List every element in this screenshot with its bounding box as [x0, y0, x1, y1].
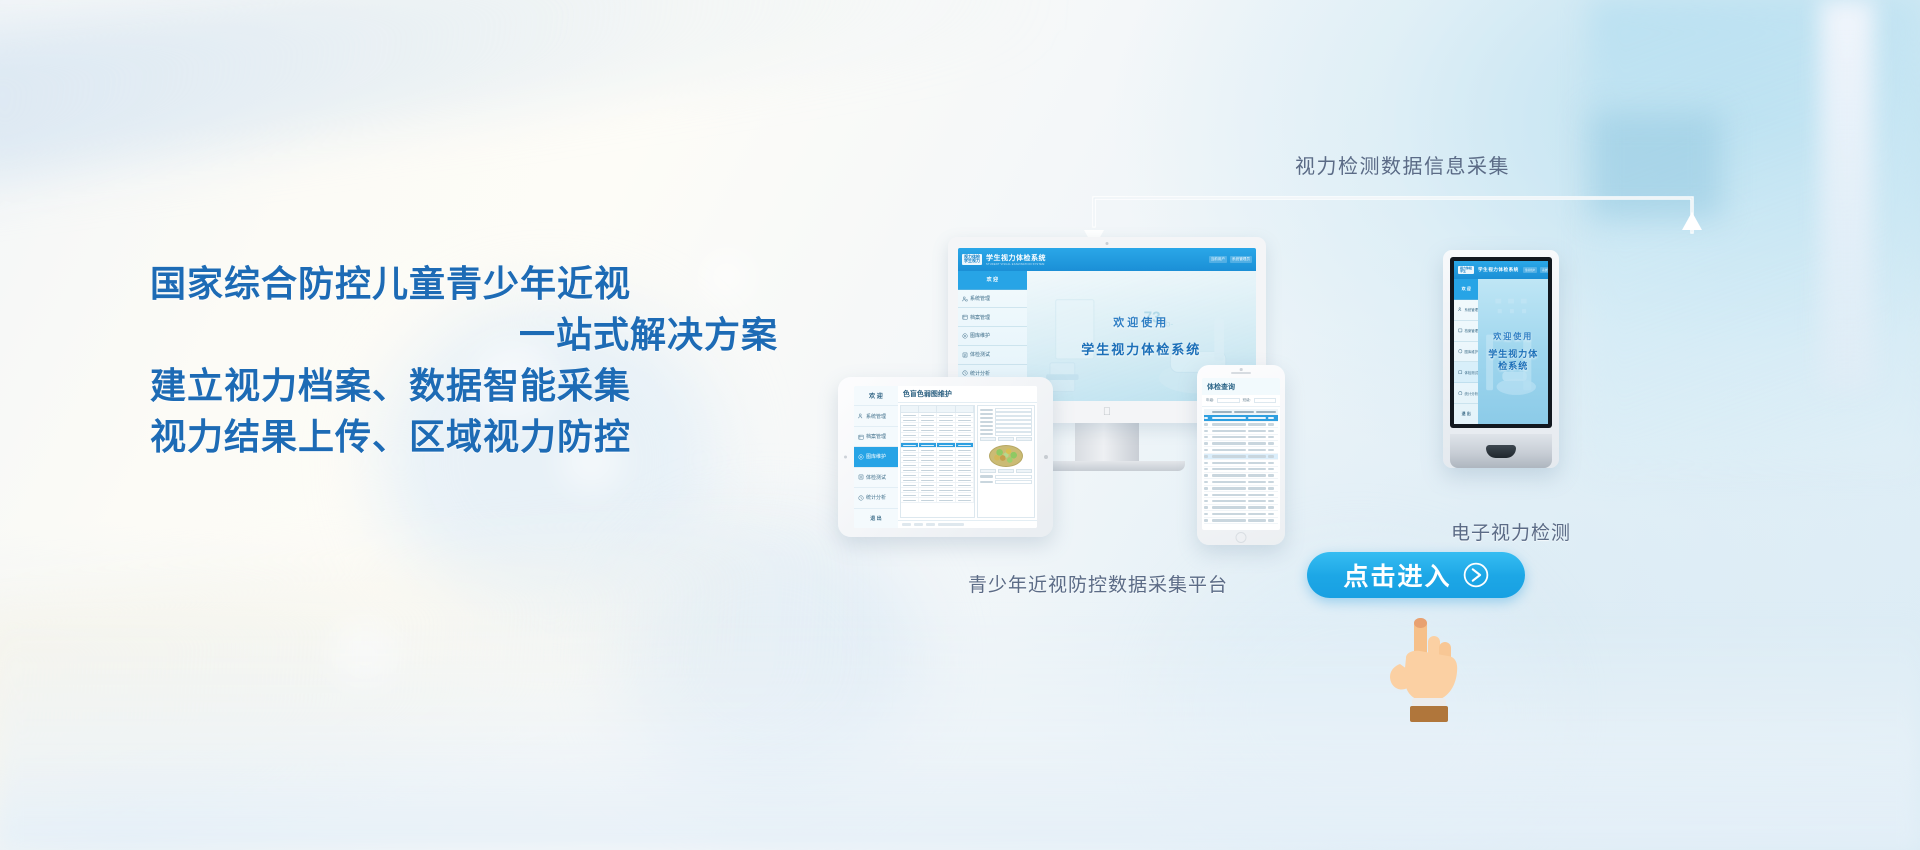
user-gear-icon [962, 296, 968, 302]
tablet-sidebar-item-exam[interactable]: 体检测试 [854, 468, 898, 488]
kiosk-user-chip-2[interactable]: 系统管理员 [1540, 267, 1548, 273]
enter-button-label: 点击进入 [1343, 557, 1451, 593]
tablet-detail-panel[interactable] [977, 405, 1035, 518]
folder-icon [962, 314, 968, 320]
phone-page-title: 体检查询 [1202, 378, 1280, 395]
app-brand-subtitle: STUDENT VISUAL EXAMINATION SYSTEM [986, 263, 1046, 266]
enter-button[interactable]: 点击进入 [1307, 552, 1525, 598]
kiosk-main-content: 欢迎使用 学生视力体检系统 [1478, 279, 1548, 424]
sidebar-item-exam[interactable]: 体检测试 [958, 346, 1027, 365]
phone-filter-select-class[interactable] [1254, 398, 1276, 403]
user-gear-icon [858, 413, 864, 419]
tablet-device: 欢 迎 系统管理 档案管理 图库维护 [838, 377, 1053, 537]
tablet-sidebar-label-system: 系统管理 [866, 413, 886, 420]
tablet-sidebar-item-gallery[interactable]: 图库维护 [854, 447, 898, 467]
tablet-home-button[interactable] [1044, 455, 1048, 459]
banner-stage: 国家综合防控儿童青少年近视 一站式解决方案 建立视力档案、数据智能采集 视力结果… [0, 0, 1920, 850]
kiosk-system-name: 学生视力体检系统 [1486, 348, 1540, 372]
kiosk-scanner-module [1486, 445, 1516, 458]
pointing-hand-icon [1376, 612, 1472, 722]
kiosk-sidebar-item-exam[interactable]: 体检测试 [1454, 362, 1478, 383]
phone-screen: 体检查询 年级: 班级: [1202, 378, 1280, 530]
kiosk-sidebar-label-system: 系统管理 [1465, 307, 1479, 312]
tablet-sidebar-item-system[interactable]: 系统管理 [854, 406, 898, 426]
apple-logo-icon:  [1103, 406, 1111, 418]
kiosk-sidebar-item-stats[interactable]: 统计分析 [1454, 383, 1478, 404]
user-gear-icon [1458, 307, 1463, 312]
tablet-sidebar-label-exam: 体检测试 [866, 474, 886, 481]
tablet-app-body: 欢 迎 系统管理 档案管理 图库维护 [854, 386, 1037, 528]
tablet-panel-buttons-top[interactable] [980, 437, 1032, 441]
kiosk-sidebar-label-gallery: 图库维护 [1465, 349, 1479, 354]
arrow-right-circle-icon [1463, 562, 1489, 588]
tablet-main-content: 色盲色弱图维护 [898, 386, 1037, 528]
phone-filter-label-grade: 年级: [1206, 398, 1214, 403]
sidebar-item-archive[interactable]: 档案管理 [958, 308, 1027, 327]
tablet-grid-row[interactable] [901, 498, 974, 503]
sidebar-label-system: 系统管理 [970, 295, 990, 302]
image-icon [858, 454, 864, 460]
tablet-panel-buttons-bottom[interactable] [980, 469, 1032, 473]
sidebar-label-exam: 体检测试 [970, 351, 990, 358]
tablet-sidebar-item-welcome[interactable]: 欢 迎 [854, 386, 898, 406]
phone-camera-icon [1240, 368, 1243, 371]
tablet-sidebar-label-gallery: 图库维护 [866, 453, 886, 460]
tablet-page-title: 色盲色弱图维护 [898, 386, 1037, 403]
kiosk-user-chip-1[interactable]: 当前用户 [1523, 267, 1537, 273]
image-icon [962, 333, 968, 339]
tablet-grid-rows[interactable] [901, 413, 974, 517]
kiosk-sidebar-item-archive[interactable]: 档案管理 [1454, 321, 1478, 342]
phone-filter-bar[interactable]: 年级: 班级: [1202, 395, 1280, 407]
phone-filter-label-class: 班级: [1243, 398, 1251, 403]
tablet-camera-icon [844, 456, 847, 459]
kiosk-user-area[interactable]: 当前用户 系统管理员 [1523, 267, 1548, 273]
sidebar-label-stats: 统计分析 [970, 370, 990, 377]
tablet-screen: 欢 迎 系统管理 档案管理 图库维护 [854, 386, 1037, 528]
kiosk-sidebar-item-system[interactable]: 系统管理 [1454, 300, 1478, 321]
kiosk-screen: 视力体检学生 学生视力体检系统 当前用户 系统管理员 欢 迎 [1454, 261, 1548, 424]
clipboard-icon [1458, 370, 1463, 375]
folder-icon [1458, 328, 1463, 333]
chart-clock-icon [858, 495, 864, 501]
phone-device: 体检查询 年级: 班级: [1197, 365, 1285, 545]
image-icon [1458, 349, 1463, 354]
kiosk-sidebar-label-exam: 体检测试 [1465, 370, 1479, 375]
monitor-stand-neck [1075, 423, 1139, 461]
kiosk-room-illustration [1478, 279, 1548, 407]
monitor-camera-icon [1106, 242, 1109, 245]
chart-clock-icon [1458, 391, 1463, 396]
tablet-status-bar [898, 520, 1037, 528]
chart-clock-icon [962, 370, 968, 376]
tablet-form-field[interactable] [980, 432, 1032, 436]
app-system-name: 学生视力体检系统 [1081, 339, 1201, 358]
app-user-chip-1[interactable]: 当前用户 [1209, 256, 1227, 263]
phone-table-row[interactable] [1204, 518, 1278, 524]
phone-home-button[interactable] [1236, 532, 1247, 543]
caption-platform: 青少年近视防控数据采集平台 [968, 570, 1228, 597]
tablet-sidebar-label-archive: 档案管理 [866, 433, 886, 440]
sidebar-item-gallery[interactable]: 图库维护 [958, 327, 1027, 346]
tablet-sidebar-label-stats: 统计分析 [866, 494, 886, 501]
kiosk-sidebar-item-gallery[interactable]: 图库维护 [1454, 342, 1478, 363]
tablet-workspace [898, 403, 1037, 520]
phone-speaker [1231, 372, 1251, 374]
folder-icon [858, 434, 864, 440]
vision-kiosk-device: 视力体检学生 学生视力体检系统 当前用户 系统管理员 欢 迎 [1443, 250, 1559, 468]
app-header-bar: 视力体检学生视力 学生视力体检系统 STUDENT VISUAL EXAMINA… [958, 248, 1256, 271]
tablet-grid-header [901, 406, 974, 413]
kiosk-app-logo: 视力体检学生 [1458, 266, 1474, 274]
app-logo: 视力体检学生视力 [962, 254, 982, 264]
kiosk-sidebar-label-stats: 统计分析 [1465, 391, 1479, 396]
sidebar-label-archive: 档案管理 [970, 314, 990, 321]
device-cluster: 视力体检学生视力 学生视力体检系统 STUDENT VISUAL EXAMINA… [0, 0, 1920, 850]
vision-app-kiosk: 视力体检学生 学生视力体检系统 当前用户 系统管理员 欢 迎 [1454, 261, 1548, 424]
tablet-sidebar-item-exit[interactable]: 退 出 [854, 509, 898, 528]
kiosk-sidebar: 欢 迎 系统管理 档案管理 [1454, 279, 1478, 424]
kiosk-brand-title: 学生视力体检系统 [1478, 267, 1519, 273]
tablet-answer-field-1[interactable] [980, 475, 1032, 479]
sidebar-item-welcome[interactable]: 欢 迎 [958, 271, 1027, 290]
app-welcome-text: 欢迎使用 [1113, 314, 1169, 330]
kiosk-sidebar-label-archive: 档案管理 [1465, 328, 1479, 333]
sidebar-item-system[interactable]: 系统管理 [958, 290, 1027, 309]
app-user-area[interactable]: 当前用户 系统管理员 [1209, 256, 1252, 263]
phone-filter-select-grade[interactable] [1217, 398, 1239, 403]
kiosk-base [1450, 434, 1552, 468]
clipboard-icon [962, 352, 968, 358]
tablet-sidebar-item-stats[interactable]: 统计分析 [854, 488, 898, 508]
color-blindness-plate-preview [989, 445, 1023, 467]
kiosk-sidebar-item-exit[interactable]: 退 出 [1454, 404, 1478, 424]
tablet-form-fields[interactable] [980, 408, 1032, 436]
tablet-answer-field-2[interactable] [980, 480, 1032, 484]
kiosk-screen-frame: 视力体检学生 学生视力体检系统 当前用户 系统管理员 欢 迎 [1450, 257, 1552, 428]
kiosk-welcome-text: 欢迎使用 [1493, 331, 1533, 342]
tablet-sidebar: 欢 迎 系统管理 档案管理 图库维护 [854, 386, 898, 528]
caption-kiosk: 电子视力检测 [1451, 518, 1571, 545]
phone-result-table[interactable] [1202, 407, 1280, 530]
app-user-chip-2[interactable]: 系统管理员 [1230, 256, 1252, 263]
kiosk-body: 欢 迎 系统管理 档案管理 [1454, 279, 1548, 424]
clipboard-icon [858, 474, 864, 480]
sidebar-label-gallery: 图库维护 [970, 332, 990, 339]
app-brand-title: 学生视力体检系统 [986, 253, 1046, 263]
tablet-data-grid[interactable] [900, 405, 975, 518]
tablet-sidebar-item-archive[interactable]: 档案管理 [854, 427, 898, 447]
kiosk-header-bar: 视力体检学生 学生视力体检系统 当前用户 系统管理员 [1454, 261, 1548, 279]
kiosk-sidebar-item-welcome[interactable]: 欢 迎 [1454, 279, 1478, 300]
